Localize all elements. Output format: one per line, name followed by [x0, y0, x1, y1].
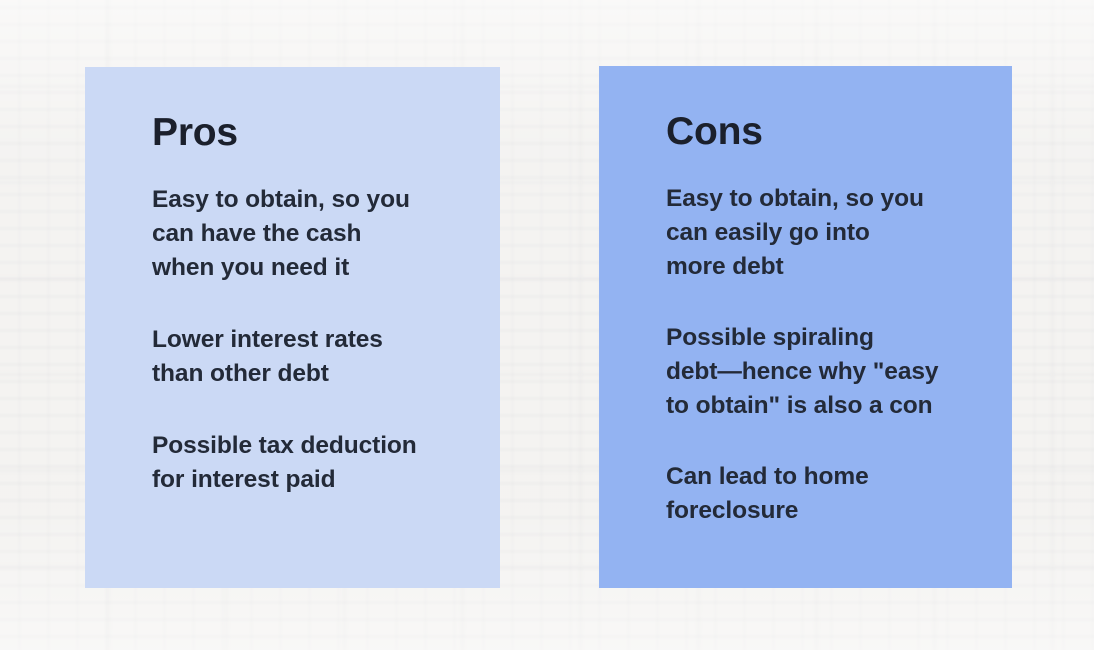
pros-list-item: Lower interest rates than other debt	[152, 323, 482, 391]
pros-panel: Pros Easy to obtain, so you can have the…	[85, 67, 500, 588]
pros-item-list: Easy to obtain, so you can have the cash…	[152, 183, 482, 497]
cons-panel: Cons Easy to obtain, so you can easily g…	[599, 66, 1012, 588]
slide-canvas: Pros Easy to obtain, so you can have the…	[0, 0, 1094, 650]
pros-panel-heading: Pros	[152, 111, 482, 155]
cons-list-item: Easy to obtain, so you can easily go int…	[666, 182, 994, 284]
pros-list-item: Easy to obtain, so you can have the cash…	[152, 183, 482, 285]
cons-item-list: Easy to obtain, so you can easily go int…	[666, 182, 994, 528]
cons-panel-heading: Cons	[666, 110, 994, 154]
cons-list-item: Possible spiraling debt—hence why "easy …	[666, 321, 994, 423]
pros-list-item: Possible tax deduction for interest paid	[152, 429, 482, 497]
cons-list-item: Can lead to home foreclosure	[666, 460, 994, 528]
